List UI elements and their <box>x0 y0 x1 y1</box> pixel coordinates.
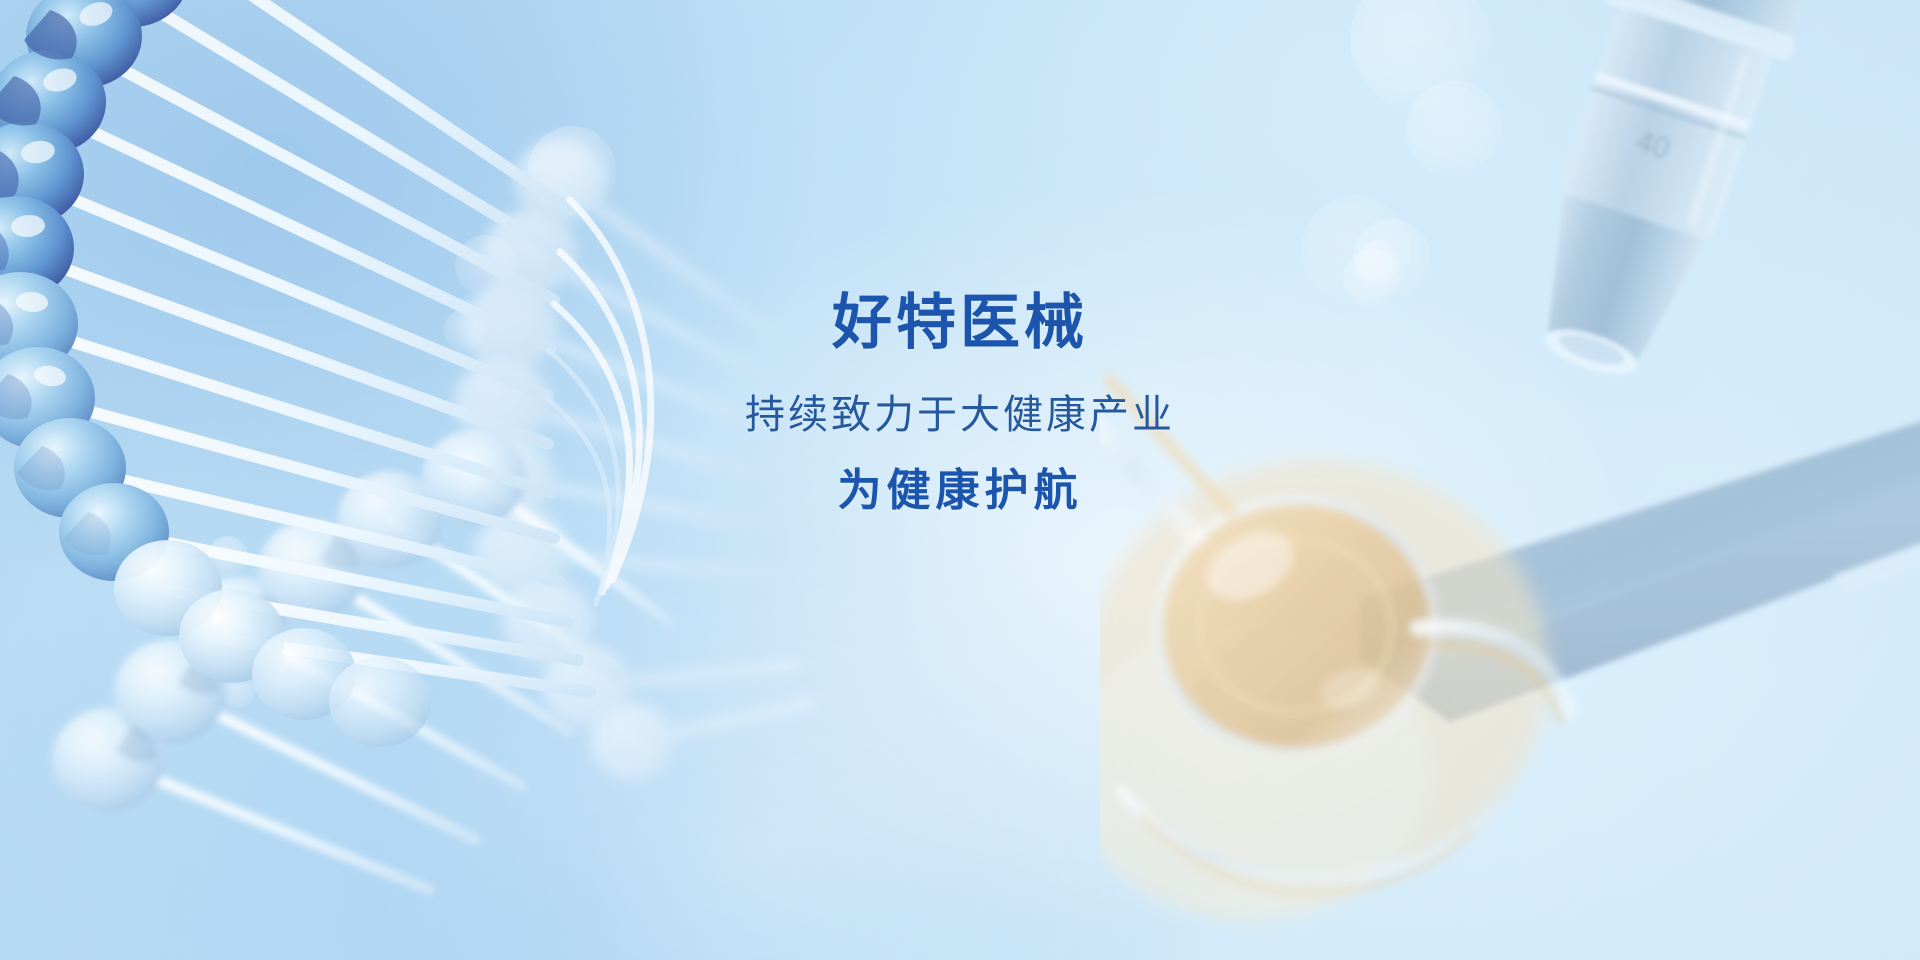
hero-subtitle: 持续致力于大健康产业 <box>0 391 1920 439</box>
hero-banner: 40 <box>0 0 1920 960</box>
hero-text-block: 好特医械 持续致力于大健康产业 为健康护航 <box>0 288 1920 518</box>
hero-tagline: 为健康护航 <box>0 465 1920 518</box>
page-title: 好特医械 <box>0 288 1920 359</box>
